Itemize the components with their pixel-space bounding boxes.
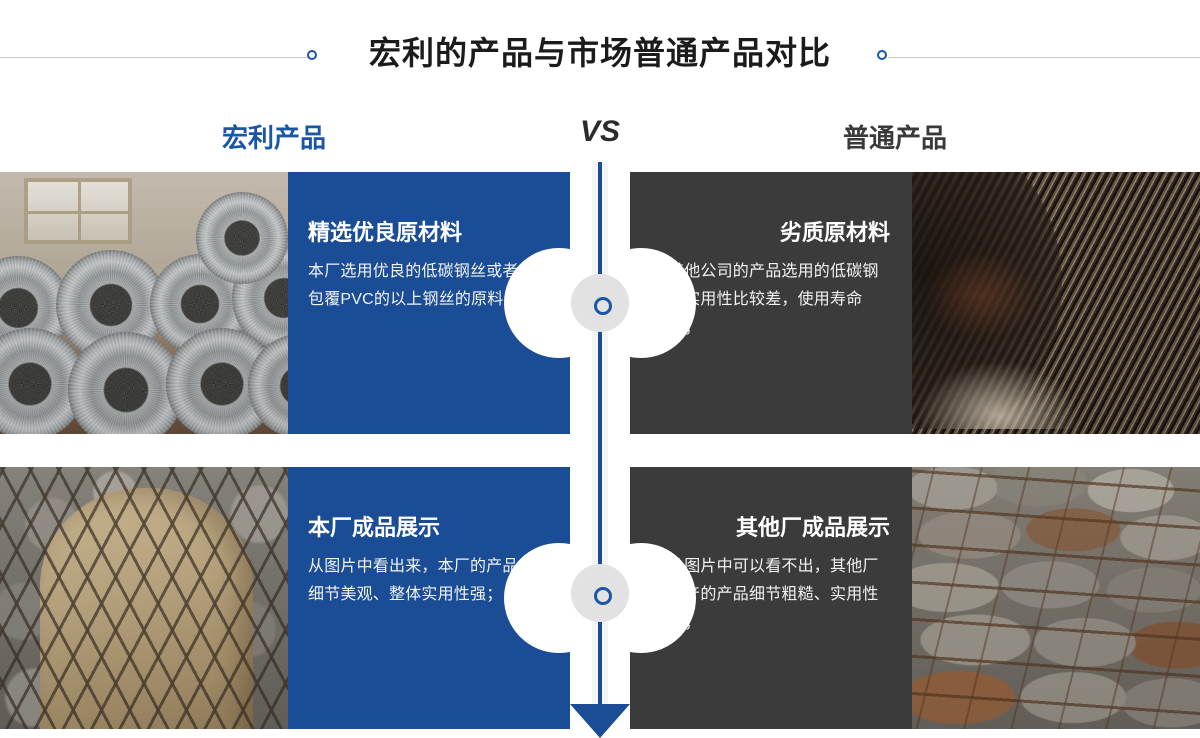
panel-right-finished: 其他厂成品展示 从图片中可以看不出，其他厂生产的产品细节粗糙、实用性差； — [630, 467, 912, 729]
panel-title: 其他厂成品展示 — [668, 515, 890, 541]
down-arrow-icon — [570, 704, 630, 738]
page-title: 宏利的产品与市场普通产品对比 — [0, 28, 1200, 74]
spine-node-icon — [571, 274, 629, 332]
panel-body: 从图片中看出来，本厂的产品细节美观、整体实用性强； — [308, 553, 530, 609]
panel-title: 本厂成品展示 — [308, 515, 530, 541]
panel-title: 精选优良原材料 — [308, 220, 530, 246]
spine-line — [598, 162, 602, 712]
panel-left-materials: 精选优良原材料 本厂选用优良的低碳钢丝或者包覆PVC的以上钢丝的原料； — [288, 172, 570, 434]
column-heading-right: 普通产品 — [843, 118, 947, 155]
panel-body: 本厂选用优良的低碳钢丝或者包覆PVC的以上钢丝的原料； — [308, 258, 530, 314]
photo-right-materials — [912, 172, 1200, 434]
panel-left-finished: 本厂成品展示 从图片中看出来，本厂的产品细节美观、整体实用性强； — [288, 467, 570, 729]
photo-left-finished — [0, 467, 288, 729]
panel-body: 其他公司的产品选用的低碳钢丝实用性比较差，使用寿命短； — [668, 258, 890, 342]
photo-left-materials — [0, 172, 288, 434]
title-rule-right — [888, 57, 1200, 58]
ring-node-icon — [594, 297, 612, 315]
title-dot-right-icon — [877, 50, 887, 60]
title-bar: 宏利的产品与市场普通产品对比 — [0, 0, 1200, 110]
spine-node-icon — [571, 564, 629, 622]
panel-right-materials: 劣质原材料 其他公司的产品选用的低碳钢丝实用性比较差，使用寿命短； — [630, 172, 912, 434]
column-heading-left: 宏利产品 — [222, 118, 326, 155]
comparison-infographic: 宏利的产品与市场普通产品对比 宏利产品 VS 普通产品 — [0, 0, 1200, 738]
vs-label: VS — [570, 115, 630, 149]
ring-node-icon — [594, 587, 612, 605]
panel-body: 从图片中可以看不出，其他厂生产的产品细节粗糙、实用性差； — [668, 553, 890, 637]
panel-title: 劣质原材料 — [668, 220, 890, 246]
photo-right-finished — [912, 467, 1200, 729]
